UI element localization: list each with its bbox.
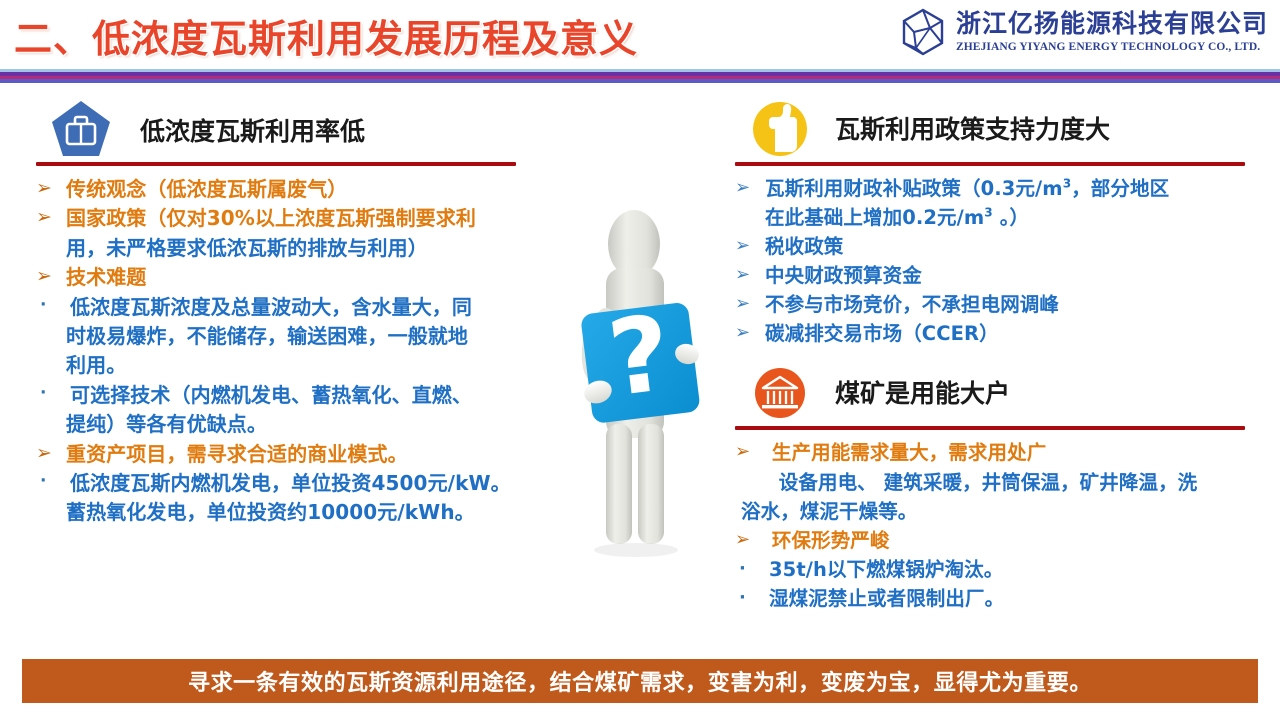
- list-item: 设备用电、 建筑采暖，井筒保温，矿井降温，洗: [735, 469, 1255, 497]
- bullet-arrow-icon: ➢: [735, 175, 765, 201]
- list-item: ➢传统观念（低浓度瓦斯属废气）: [36, 175, 556, 203]
- right-section-2-list: ➢ 生产用能需求量大，需求用处广 设备用电、 建筑采暖，井筒保温，矿井降温，洗浴…: [735, 439, 1255, 612]
- list-item: ·低浓度瓦斯内燃机发电，单位投资4500元/kW。: [36, 469, 556, 497]
- list-item-text: 蓄热氧化发电，单位投资约10000元/kWh。: [66, 498, 475, 526]
- right-section-1-header: 瓦斯利用政策支持力度大: [735, 98, 1255, 160]
- list-item-text: 税收政策: [765, 233, 843, 261]
- list-item-text: 浴水，煤泥干燥等。: [741, 498, 917, 526]
- list-item-text: 传统观念（低浓度瓦斯属废气）: [66, 175, 347, 203]
- list-item: ➢技术难题: [36, 263, 556, 291]
- list-item: ➢ 生产用能需求量大，需求用处广: [735, 439, 1255, 467]
- list-item: ·35t/h以下燃煤锅炉淘汰。: [735, 556, 1255, 584]
- list-item: 蓄热氧化发电，单位投资约10000元/kWh。: [36, 498, 556, 526]
- list-item: 时极易爆炸，不能储存，输送困难，一般就地: [36, 322, 556, 350]
- list-item-text: 可选择技术（内燃机发电、蓄热氧化、直燃、: [70, 381, 472, 409]
- list-item: 利用。: [36, 351, 556, 379]
- right-section-1-title: 瓦斯利用政策支持力度大: [835, 110, 1110, 146]
- bullet-arrow-icon: ➢: [735, 527, 765, 553]
- list-item: 在此基础上增加0.2元/m3 。）: [735, 204, 1255, 232]
- list-item: ➢瓦斯利用财政补贴政策（0.3元/m3，部分地区: [735, 175, 1255, 203]
- list-item-text: 用，未严格要求低浓瓦斯的排放与利用）: [66, 234, 428, 262]
- list-item-text: 35t/h以下燃煤锅炉淘汰。: [769, 556, 1003, 584]
- briefcase-pentagon-icon: [50, 100, 112, 158]
- bullet-arrow-icon: ➢: [735, 262, 765, 288]
- list-item-text: 提纯）等各有优缺点。: [66, 410, 267, 438]
- person-holding-question-sign: ?: [548, 196, 730, 566]
- list-item-text: 国家政策（仅对30%以上浓度瓦斯强制要求利: [66, 204, 476, 232]
- bullet-dot-icon: ·: [735, 585, 769, 611]
- list-item: ·湿煤泥禁止或者限制出厂。: [735, 585, 1255, 613]
- right-section-1-list: ➢瓦斯利用财政补贴政策（0.3元/m3，部分地区在此基础上增加0.2元/m3 。…: [735, 175, 1255, 348]
- bank-circle-icon: [749, 364, 811, 422]
- list-item-text: 在此基础上增加0.2元/m3 。）: [765, 204, 1029, 232]
- right-section-2-rule: [735, 426, 1245, 430]
- list-item-text: 设备用电、 建筑采暖，井筒保温，矿井降温，洗: [765, 469, 1197, 497]
- left-section-title: 低浓度瓦斯利用率低: [140, 112, 365, 148]
- list-item-text: 低浓度瓦斯浓度及总量波动大，含水量大，同: [70, 293, 472, 321]
- thumbs-up-circle-icon: [749, 100, 811, 158]
- slide-header: 二、低浓度瓦斯利用发展历程及意义 浙江亿扬能源科技有限公司 ZHEJIANG Y…: [0, 0, 1280, 72]
- list-item: ➢重资产项目，需寻求合适的商业模式。: [36, 440, 556, 468]
- company-name-cn: 浙江亿扬能源科技有限公司: [956, 11, 1268, 37]
- header-divider: [0, 69, 1280, 83]
- list-item-text: 环保形势严峻: [765, 527, 890, 555]
- question-figure-illustration: ?: [548, 196, 730, 566]
- list-item-text: 湿煤泥禁止或者限制出厂。: [769, 585, 1004, 613]
- bullet-arrow-icon: ➢: [36, 440, 66, 467]
- list-item-text: 生产用能需求量大，需求用处广: [765, 439, 1046, 467]
- bullet-dot-icon: ·: [36, 469, 70, 493]
- list-item: ➢国家政策（仅对30%以上浓度瓦斯强制要求利: [36, 204, 556, 232]
- right-section-2-header: 煤矿是用能大户: [735, 362, 1255, 424]
- list-item-text: 低浓度瓦斯内燃机发电，单位投资4500元/kW。: [70, 469, 511, 497]
- bullet-arrow-icon: ➢: [735, 291, 765, 317]
- divider-stripe-blue: [0, 79, 1280, 83]
- hexagon-logo-icon: [900, 8, 946, 56]
- list-item-text: 碳减排交易市场（CCER）: [765, 320, 999, 348]
- right-section-1-rule: [735, 162, 1245, 166]
- right-section-2-title: 煤矿是用能大户: [835, 374, 1010, 410]
- bottom-banner: 寻求一条有效的瓦斯资源利用途径，结合煤矿需求，变害为利，变废为宝，显得尤为重要。: [22, 659, 1258, 703]
- left-section-rule: [36, 162, 516, 166]
- list-item: 用，未严格要求低浓瓦斯的排放与利用）: [36, 234, 556, 262]
- list-item: ➢中央财政预算资金: [735, 262, 1255, 290]
- left-section-header: 低浓度瓦斯利用率低: [36, 98, 556, 160]
- bullet-arrow-icon: ➢: [735, 439, 765, 465]
- list-item-text: 中央财政预算资金: [765, 262, 922, 290]
- list-item-text: 不参与市场竞价，不承担电网调峰: [765, 291, 1059, 319]
- list-item-text: 时极易爆炸，不能储存，输送困难，一般就地: [66, 322, 468, 350]
- logo-text-block: 浙江亿扬能源科技有限公司 ZHEJIANG YIYANG ENERGY TECH…: [956, 11, 1268, 52]
- bullet-arrow-icon: ➢: [36, 175, 66, 202]
- page-title: 二、低浓度瓦斯利用发展历程及意义: [14, 8, 638, 63]
- bullet-arrow-icon: ➢: [36, 263, 66, 290]
- list-item: 浴水，煤泥干燥等。: [735, 498, 1255, 526]
- right-column: 瓦斯利用政策支持力度大 ➢瓦斯利用财政补贴政策（0.3元/m3，部分地区在此基础…: [735, 98, 1255, 614]
- list-item-text: 技术难题: [66, 263, 146, 291]
- left-bullet-list: ➢传统观念（低浓度瓦斯属废气）➢国家政策（仅对30%以上浓度瓦斯强制要求利用，未…: [36, 175, 556, 527]
- list-item: ➢税收政策: [735, 233, 1255, 261]
- bullet-arrow-icon: ➢: [735, 320, 765, 346]
- bullet-arrow-icon: ➢: [735, 233, 765, 259]
- list-item-text: 重资产项目，需寻求合适的商业模式。: [66, 440, 408, 468]
- bullet-dot-icon: ·: [36, 293, 70, 317]
- list-item-text: 利用。: [66, 351, 126, 379]
- bullet-dot-icon: ·: [36, 381, 70, 405]
- company-name-en: ZHEJIANG YIYANG ENERGY TECHNOLOGY CO., L…: [956, 41, 1268, 53]
- company-logo: 浙江亿扬能源科技有限公司 ZHEJIANG YIYANG ENERGY TECH…: [900, 8, 1268, 56]
- bullet-arrow-icon: ➢: [36, 204, 66, 231]
- left-column: 低浓度瓦斯利用率低 ➢传统观念（低浓度瓦斯属废气）➢国家政策（仅对30%以上浓度…: [36, 98, 556, 528]
- list-item: ➢碳减排交易市场（CCER）: [735, 320, 1255, 348]
- list-item: ➢ 环保形势严峻: [735, 527, 1255, 555]
- list-item: 提纯）等各有优缺点。: [36, 410, 556, 438]
- bullet-dot-icon: ·: [735, 556, 769, 582]
- slide-canvas: 二、低浓度瓦斯利用发展历程及意义 浙江亿扬能源科技有限公司 ZHEJIANG Y…: [0, 0, 1280, 720]
- list-item-text: 瓦斯利用财政补贴政策（0.3元/m3，部分地区: [765, 175, 1169, 203]
- list-item: ·低浓度瓦斯浓度及总量波动大，含水量大，同: [36, 293, 556, 321]
- bottom-banner-text: 寻求一条有效的瓦斯资源利用途径，结合煤矿需求，变害为利，变废为宝，显得尤为重要。: [188, 665, 1092, 697]
- list-item: ·可选择技术（内燃机发电、蓄热氧化、直燃、: [36, 381, 556, 409]
- list-item: ➢不参与市场竞价，不承担电网调峰: [735, 291, 1255, 319]
